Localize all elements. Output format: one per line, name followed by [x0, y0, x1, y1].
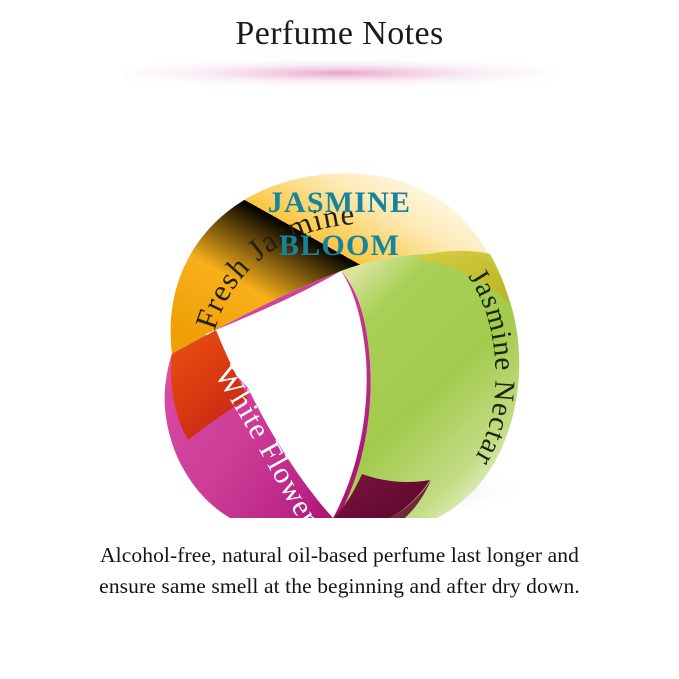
diagram-svg: Fresh Jasmine Jasmine Nectar White Flowe…	[0, 88, 679, 518]
perfume-notes-diagram: Fresh Jasmine Jasmine Nectar White Flowe…	[0, 88, 679, 518]
caption-block: Alcohol-free, natural oil-based perfume …	[0, 540, 679, 601]
page-root: Perfume Notes	[0, 0, 679, 679]
title-glow-decoration	[125, 60, 555, 86]
caption-line-1: Alcohol-free, natural oil-based perfume …	[14, 540, 665, 571]
page-title-block: Perfume Notes	[0, 14, 679, 53]
page-title: Perfume Notes	[0, 14, 679, 53]
caption-line-2: ensure same smell at the beginning and a…	[14, 571, 665, 602]
